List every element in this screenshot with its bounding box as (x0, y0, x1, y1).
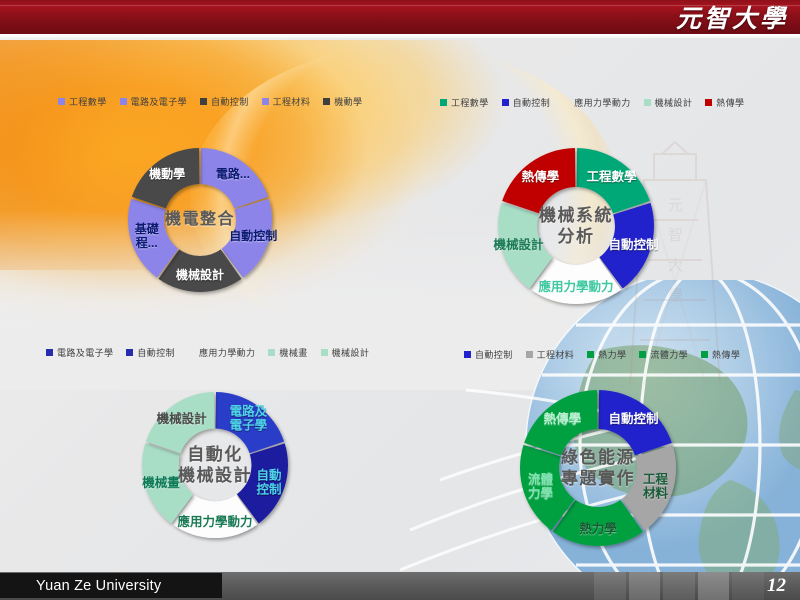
slide-footer: Yuan Ze University 12 (0, 572, 800, 600)
university-logo: 元智大學 (676, 0, 788, 35)
legend-label: 工程材料 (537, 348, 575, 361)
donut-segment[interactable] (146, 392, 215, 453)
donut-segment[interactable] (132, 148, 200, 208)
legend-label: 工程數學 (451, 96, 489, 109)
legend-item: 機動學 (323, 95, 362, 108)
legend-swatch-icon (464, 351, 471, 358)
legend-swatch-icon (268, 349, 275, 356)
legend-label: 機械設計 (332, 346, 370, 359)
legend-item: 工程材料 (262, 95, 311, 108)
legend-swatch-icon (321, 349, 328, 356)
legend-swatch-icon (644, 99, 651, 106)
legend-item: 熱傳學 (705, 96, 744, 109)
legend-label: 流體力學 (650, 348, 688, 361)
legend-swatch-icon (502, 99, 509, 106)
legend-swatch-icon (120, 98, 127, 105)
svg-text:智: 智 (668, 226, 683, 244)
chart-legend-4: 自動控制工程材料熱力學流體力學熱傳學 (464, 348, 753, 361)
legend-item: 流體力學 (639, 348, 688, 361)
legend-label: 自動控制 (475, 348, 513, 361)
header-divider (0, 34, 800, 38)
chart-legend-2: 工程數學自動控制應用力學動力機械設計熱傳學 (440, 96, 757, 109)
legend-swatch-icon (262, 98, 269, 105)
donut-segment[interactable] (216, 392, 285, 453)
legend-item: 機械設計 (321, 346, 370, 359)
donut-segment[interactable] (599, 390, 672, 455)
legend-label: 熱傳學 (716, 96, 744, 109)
legend-swatch-icon (440, 99, 447, 106)
legend-item: 工程數學 (58, 95, 107, 108)
page-number: 12 (767, 575, 786, 597)
legend-swatch-icon (526, 351, 533, 358)
legend-item: 應用力學動力 (563, 96, 630, 109)
legend-label: 自動控制 (137, 346, 175, 359)
legend-swatch-icon (705, 99, 712, 106)
donut-segment[interactable] (577, 148, 650, 213)
legend-swatch-icon (563, 99, 570, 106)
donut-segment[interactable] (502, 148, 575, 213)
legend-item: 電路及電子學 (46, 346, 113, 359)
legend-item: 自動控制 (200, 95, 249, 108)
legend-item: 自動控制 (502, 96, 551, 109)
donut-chart-green-energy-project: 自動控制工程材料熱力學流體力學熱傳學綠色能源專題實作 (518, 388, 678, 548)
footer-decorative-bars (594, 572, 764, 600)
legend-label: 應用力學動力 (574, 96, 630, 109)
legend-label: 工程材料 (273, 95, 311, 108)
legend-label: 工程數學 (69, 95, 107, 108)
legend-label: 應用力學動力 (199, 346, 255, 359)
footer-university-plate: Yuan Ze University (0, 573, 222, 598)
donut-segment[interactable] (524, 390, 597, 455)
legend-swatch-icon (46, 349, 53, 356)
donut-svg (140, 390, 290, 540)
legend-label: 機械設計 (655, 96, 693, 109)
chart-legend-1: 工程數學電路及電子學自動控制工程材料機動學 (58, 95, 375, 108)
legend-item: 熱力學 (587, 348, 626, 361)
legend-item: 熱傳學 (701, 348, 740, 361)
legend-swatch-icon (323, 98, 330, 105)
svg-text:學: 學 (668, 286, 683, 304)
legend-label: 電路及電子學 (57, 346, 113, 359)
chart-legend-3: 電路及電子學自動控制應用力學動力機械畫機械設計 (46, 346, 382, 359)
svg-text:大: 大 (668, 256, 683, 274)
legend-label: 熱力學 (598, 348, 626, 361)
legend-swatch-icon (188, 349, 195, 356)
svg-text:元: 元 (668, 196, 683, 214)
legend-item: 機械畫 (268, 346, 307, 359)
legend-label: 熱傳學 (712, 348, 740, 361)
legend-swatch-icon (126, 349, 133, 356)
legend-swatch-icon (701, 351, 708, 358)
slide-header-banner: 元智大學 (0, 0, 800, 36)
donut-svg (126, 146, 274, 294)
legend-item: 機械設計 (644, 96, 693, 109)
legend-label: 自動控制 (513, 96, 551, 109)
donut-svg (496, 146, 656, 306)
legend-item: 自動控制 (126, 346, 175, 359)
legend-item: 自動控制 (464, 348, 513, 361)
legend-item: 工程數學 (440, 96, 489, 109)
legend-swatch-icon (58, 98, 65, 105)
legend-swatch-icon (639, 351, 646, 358)
legend-label: 機動學 (334, 95, 362, 108)
donut-chart-automation-mechanical-design: 電路及電子學自動控制應用力學動力機械畫機械設計自動化機械設計 (140, 390, 290, 540)
slide-canvas: 元智大學 元智大學 工程數學電路及電子學自動控制工程材料機動學 工程數學自動控制… (0, 0, 800, 600)
donut-chart-mechanical-system-analysis: 工程數學自動控制應用力學動力機械設計熱傳學機械系統分析 (496, 146, 656, 306)
footer-university-label: Yuan Ze University (36, 578, 161, 594)
legend-item: 工程材料 (526, 348, 575, 361)
donut-chart-mechatronics: 電路...自動控制機械設計基礎程...機動學機電整合 (126, 146, 274, 294)
donut-segment[interactable] (201, 148, 269, 208)
legend-label: 電路及電子學 (131, 95, 187, 108)
donut-svg (518, 388, 678, 548)
legend-swatch-icon (200, 98, 207, 105)
legend-label: 自動控制 (211, 95, 249, 108)
legend-swatch-icon (587, 351, 594, 358)
legend-item: 電路及電子學 (120, 95, 187, 108)
legend-item: 應用力學動力 (188, 346, 255, 359)
legend-label: 機械畫 (279, 346, 307, 359)
